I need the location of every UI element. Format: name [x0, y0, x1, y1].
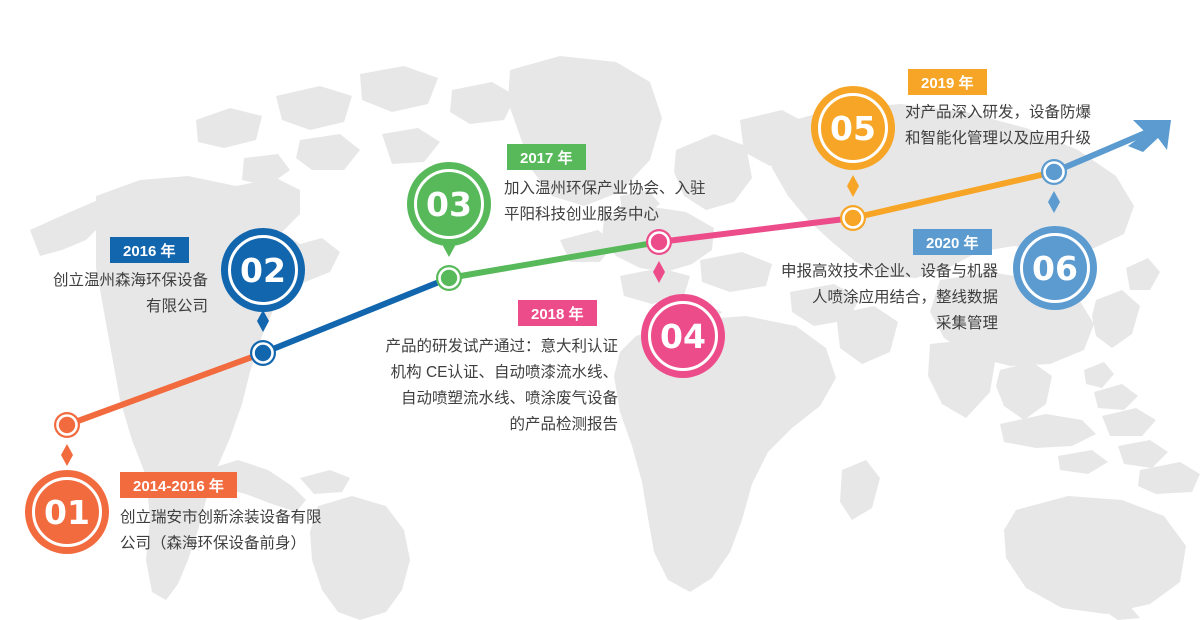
description-01: 创立瑞安市创新涂装设备有限 公司（森海环保设备前身） — [120, 505, 420, 557]
medallion-number-06: 06 — [1032, 252, 1078, 285]
year-chip-label-02: 2016 年 — [123, 240, 176, 261]
year-chip-04: 2018 年 — [518, 300, 597, 326]
connector-diamond-06 — [1048, 191, 1060, 213]
segment-05-06 — [853, 172, 1054, 218]
infographic-canvas: 01 2014-2016 年 创立瑞安市创新涂装设备有限 公司（森海环保设备前身… — [0, 0, 1200, 620]
year-chip-02: 2016 年 — [110, 237, 189, 263]
medallion-05[interactable]: 05 — [811, 86, 895, 170]
year-chip-01: 2014-2016 年 — [120, 472, 237, 498]
year-chip-label-03: 2017 年 — [520, 147, 573, 168]
medallion-number-03: 03 — [426, 188, 472, 221]
year-chip-label-06: 2020 年 — [926, 232, 979, 253]
medallion-03[interactable]: 03 — [407, 162, 491, 246]
connector-diamond-01 — [61, 444, 73, 466]
medallion-number-04: 04 — [660, 320, 706, 353]
medallion-number-01: 01 — [44, 496, 90, 529]
year-chip-label-04: 2018 年 — [531, 303, 584, 324]
medallion-number-05: 05 — [830, 112, 876, 145]
year-chip-03: 2017 年 — [507, 144, 586, 170]
connector-diamond-02 — [257, 310, 269, 332]
connector-diamond-04 — [653, 261, 665, 283]
year-chip-label-05: 2019 年 — [921, 72, 974, 93]
description-04: 产品的研发试产通过：意大利认证 机构 CE认证、自动喷漆流水线、 自动喷塑流水线… — [330, 334, 618, 438]
year-chip-05: 2019 年 — [908, 69, 987, 95]
description-03: 加入温州环保产业协会、入驻 平阳科技创业服务中心 — [504, 176, 774, 228]
description-06: 申报高效技术企业、设备与机器 人喷涂应用结合，整线数据 采集管理 — [710, 259, 998, 337]
year-chip-label-01: 2014-2016 年 — [133, 475, 224, 496]
year-chip-06: 2020 年 — [913, 229, 992, 255]
medallion-01[interactable]: 01 — [25, 470, 109, 554]
medallion-06[interactable]: 06 — [1013, 226, 1097, 310]
description-02: 创立温州森海环保设备 有限公司 — [15, 268, 208, 320]
medallion-number-02: 02 — [240, 254, 286, 287]
medallion-02[interactable]: 02 — [221, 228, 305, 312]
segment-03-04 — [449, 242, 659, 278]
segment-01-02 — [67, 353, 263, 425]
connector-diamond-05 — [847, 175, 859, 197]
description-05: 对产品深入研发，设备防爆 和智能化管理以及应用升级 — [905, 100, 1195, 152]
